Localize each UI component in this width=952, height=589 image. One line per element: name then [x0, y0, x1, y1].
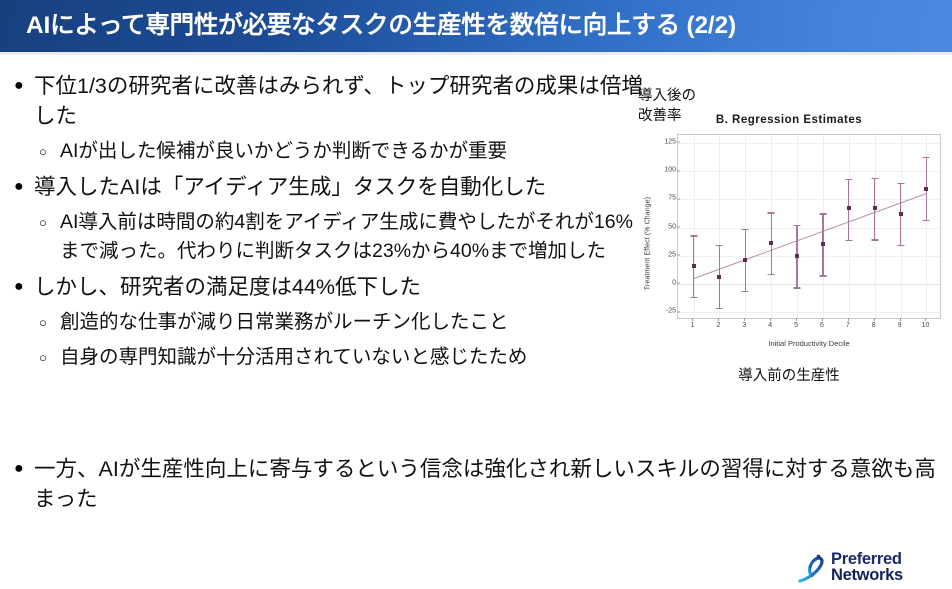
chart-x-tick: 5 — [794, 322, 798, 329]
chart-data-point — [899, 212, 903, 216]
chart-x-tick: 7 — [846, 322, 850, 329]
chart-plot-area: Treatment Effect (% Change) Initial Prod… — [630, 132, 948, 362]
bullet-marker: ○ — [39, 208, 53, 237]
chart-canvas — [677, 134, 941, 319]
chart-title: B. Regression Estimates — [630, 114, 948, 126]
bullet-marker: ○ — [39, 137, 53, 166]
final-bullet-block: ● 一方、AIが生産性向上に寄与するという信念は強化され新しいスキルの習得に対す… — [8, 454, 948, 516]
chart-error-cap — [923, 220, 930, 221]
list-item: ● 一方、AIが生産性向上に寄与するという信念は強化され新しいスキルの習得に対す… — [8, 454, 948, 514]
chart-error-cap — [897, 245, 904, 246]
chart-data-point — [847, 206, 851, 210]
list-item-text: 一方、AIが生産性向上に寄与するという信念は強化され新しいスキルの習得に対する意… — [34, 454, 948, 514]
chart-error-cap — [742, 291, 749, 292]
list-item: ○ AI導入前は時間の約4割をアイディア生成に費やしたがそれが16%まで減った。… — [8, 208, 648, 266]
preferred-networks-logo: Preferred Networks — [797, 551, 947, 587]
chart-y-tick: 25 — [648, 251, 676, 258]
preferred-networks-mark-icon — [797, 554, 829, 584]
chart-error-cap — [768, 212, 775, 213]
chart-x-axis-label: Initial Productivity Decile — [677, 339, 941, 348]
chart-data-point — [692, 264, 696, 268]
list-item-text: AIが出した候補が良いかどうか判断できるかが重要 — [60, 137, 648, 166]
chart-x-tick: 3 — [742, 322, 746, 329]
bullet-marker: ○ — [39, 343, 53, 372]
bullet-marker: ● — [14, 272, 28, 302]
bullet-marker: ● — [14, 172, 28, 202]
chart-error-cap — [716, 245, 723, 246]
slide-title-bar: AIによって専門性が必要なタスクの生産性を数倍に向上する (2/2) — [0, 0, 952, 52]
chart-error-cap — [819, 213, 826, 214]
chart-error-cap — [794, 287, 801, 288]
chart-error-cap — [923, 157, 930, 158]
logo-line-1: Preferred — [831, 552, 903, 568]
logo-line-2: Networks — [831, 568, 903, 584]
chart-y-tick: 125 — [648, 138, 676, 145]
list-item-text: 導入したAIは「アイディア生成」タスクを自動化した — [34, 172, 648, 202]
chart-x-tick: 2 — [716, 322, 720, 329]
chart-x-tick: 10 — [922, 322, 930, 329]
chart-data-point — [769, 241, 773, 245]
chart-fit-line — [693, 193, 926, 279]
chart-error-cap — [871, 178, 878, 179]
chart-y-tick: -25 — [648, 308, 676, 315]
chart-x-tick: 4 — [768, 322, 772, 329]
chart-y-tick: 100 — [648, 167, 676, 174]
list-item: ● 導入したAIは「アイディア生成」タスクを自動化した — [8, 172, 648, 202]
chart-x-tick: 8 — [872, 322, 876, 329]
title-divider — [0, 52, 952, 55]
chart-error-cap — [897, 183, 904, 184]
list-item: ● しかし、研究者の満足度は44%低下した — [8, 272, 648, 302]
chart-y-tick: 75 — [648, 195, 676, 202]
chart-data-point — [924, 187, 928, 191]
chart-data-point — [873, 206, 877, 210]
list-item-text: 自身の専門知識が十分活用されていないと感じたため — [60, 343, 648, 372]
list-item-text: しかし、研究者の満足度は44%低下した — [34, 272, 648, 302]
chart-y-tick: 0 — [648, 279, 676, 286]
chart-annotation-bottom: 導入前の生産性 — [630, 364, 948, 385]
list-item-text: 下位1/3の研究者に改善はみられず、トップ研究者の成果は倍増した — [34, 71, 648, 131]
page-title: AIによって専門性が必要なタスクの生産性を数倍に向上する (2/2) — [26, 14, 736, 39]
list-item: ○ 自身の専門知識が十分活用されていないと感じたため — [8, 343, 648, 372]
list-item: ○ 創造的な仕事が減り日常業務がルーチン化したこと — [8, 308, 648, 337]
chart-error-cap — [716, 308, 723, 309]
chart-error-cap — [871, 239, 878, 240]
chart-data-point — [717, 275, 721, 279]
chart-x-tick: 1 — [691, 322, 695, 329]
bullet-marker: ● — [14, 71, 28, 101]
chart-data-point — [743, 258, 747, 262]
chart-error-cap — [768, 274, 775, 275]
chart-y-tick: 50 — [648, 223, 676, 230]
logo-wordmark: Preferred Networks — [831, 552, 903, 583]
bullet-list: ● 下位1/3の研究者に改善はみられず、トップ研究者の成果は倍増した ○ AIが… — [8, 71, 648, 378]
list-item-text: 創造的な仕事が減り日常業務がルーチン化したこと — [60, 308, 648, 337]
chart-error-cap — [794, 225, 801, 226]
bullet-marker: ○ — [39, 308, 53, 337]
bullet-marker: ● — [14, 454, 28, 484]
chart-error-cap — [742, 229, 749, 230]
chart-data-point — [821, 242, 825, 246]
slide-body: ● 下位1/3の研究者に改善はみられず、トップ研究者の成果は倍増した ○ AIが… — [0, 58, 952, 533]
list-item: ● 下位1/3の研究者に改善はみられず、トップ研究者の成果は倍増した — [8, 71, 648, 131]
chart-x-tick: 9 — [898, 322, 902, 329]
chart-error-cap — [690, 297, 697, 298]
chart-error-cap — [845, 179, 852, 180]
chart-x-tick: 6 — [820, 322, 824, 329]
chart-figure: 導入後の 改善率 B. Regression Estimates Treatme… — [630, 86, 948, 396]
list-item-text: AI導入前は時間の約4割をアイディア生成に費やしたがそれが16%まで減った。代わ… — [60, 208, 648, 266]
chart-error-cap — [845, 240, 852, 241]
chart-error-cap — [819, 275, 826, 276]
list-item: ○ AIが出した候補が良いかどうか判断できるかが重要 — [8, 137, 648, 166]
chart-error-cap — [690, 235, 697, 236]
chart-data-point — [795, 254, 799, 258]
